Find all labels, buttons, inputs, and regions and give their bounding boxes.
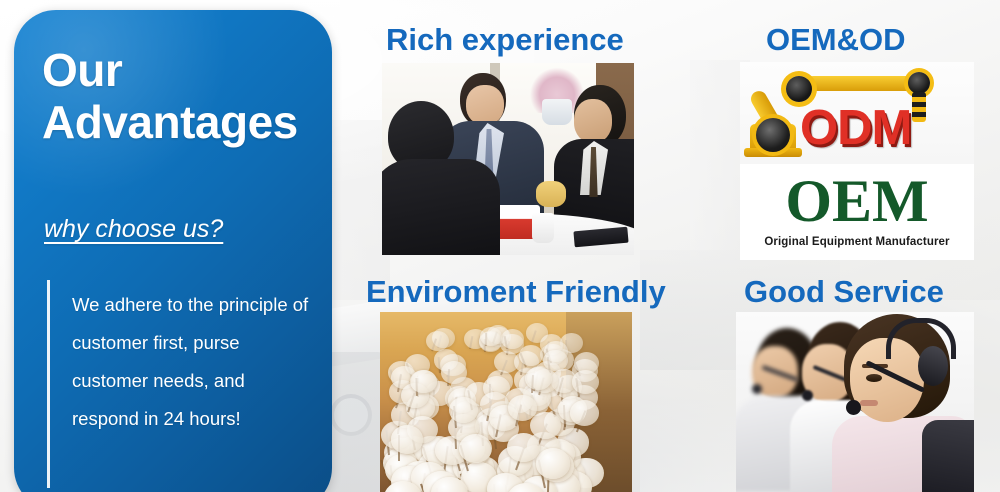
headset-mic-icon [752, 384, 762, 394]
heading-good-service: Good Service [744, 274, 944, 310]
person-center-face [466, 85, 504, 125]
panel-subtitle: why choose us? [44, 215, 223, 244]
oem-logo-text: OEM [740, 170, 974, 232]
cotton-boll [525, 367, 551, 390]
heading-enviroment-friendly: Enviroment Friendly [366, 274, 666, 310]
person-right-face [574, 99, 612, 143]
drink-cup-shape [532, 213, 554, 243]
agent-front-eye [866, 374, 882, 382]
title-line-2: Advantages [42, 96, 322, 148]
person-left-suit [382, 159, 500, 255]
advantages-banner: Our Advantages why choose us? We adhere … [0, 0, 1000, 492]
cotton-boll [507, 433, 540, 462]
cotton-boll [570, 400, 600, 426]
cotton-boll [426, 331, 449, 351]
robot-arm-upper [806, 76, 916, 91]
oem-logo-subtitle: Original Equipment Manufacturer [740, 236, 974, 248]
cotton-boll [519, 345, 543, 366]
heading-rich-experience: Rich experience [386, 22, 624, 58]
food-shape [536, 181, 566, 207]
photo-rich-experience [382, 63, 634, 255]
photo-oem-odm: ODM OEM Original Equipment Manufacturer [740, 62, 974, 260]
cotton-boll [391, 425, 423, 453]
photo-good-service [736, 312, 974, 492]
cotton-boll [441, 361, 467, 384]
advantages-panel: Our Advantages why choose us? We adhere … [14, 10, 332, 492]
robot-shoulder-joint [756, 118, 790, 152]
cotton-boll [410, 370, 437, 393]
robot-wrist-joint [908, 72, 930, 94]
agent-front-lip [860, 400, 878, 406]
cotton-boll [449, 397, 478, 423]
cotton-boll [536, 448, 570, 478]
cotton-boll [572, 370, 599, 393]
flower-pot-shape [542, 99, 572, 125]
odm-logo-text: ODM [800, 98, 974, 158]
page-title: Our Advantages [42, 44, 322, 148]
headset-mic-icon [802, 390, 813, 401]
title-line-1: Our [42, 44, 322, 96]
panel-body-text: We adhere to the principle of customer f… [72, 286, 310, 438]
headset-earcup-icon [918, 346, 948, 386]
headset-mic-icon [846, 400, 861, 415]
accent-divider [47, 280, 50, 488]
photo-enviroment-friendly [380, 312, 632, 492]
cotton-boll [501, 329, 524, 349]
heading-oem-odm: OEM&OD [766, 22, 906, 58]
agent-front-jacket [922, 420, 974, 492]
